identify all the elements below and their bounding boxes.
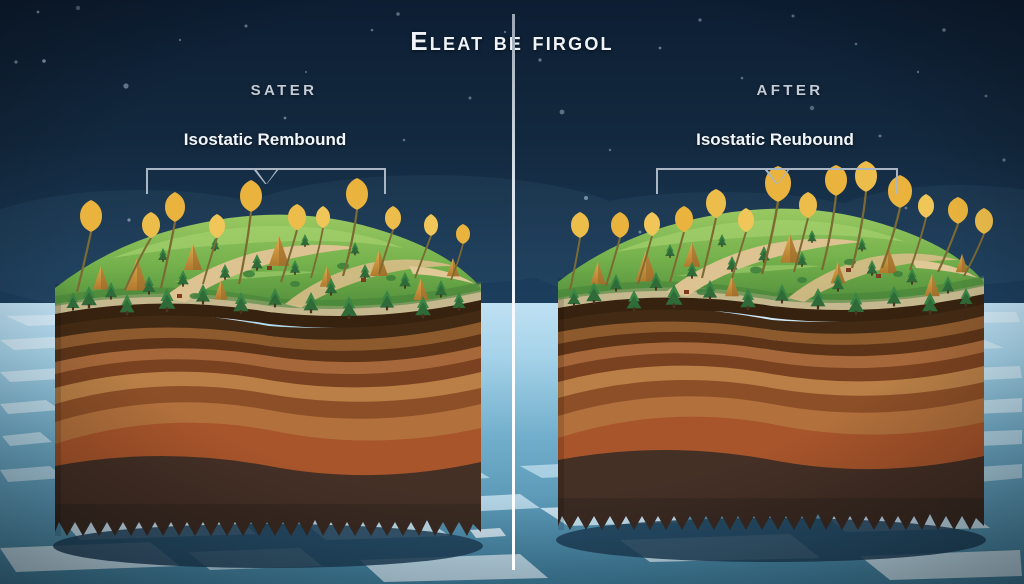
bracket-label-before: Isostatic Rembound [145,130,385,150]
rock-outcrops [590,234,968,296]
ice-chips [62,390,920,538]
measurement-bracket-after [656,168,898,196]
panel-label-after: AFTER [670,82,910,99]
pine-forest [568,230,973,315]
shrubs [190,263,397,299]
island-cross-section-after [556,161,993,562]
center-divider [512,14,515,570]
measurement-bracket-before [146,168,386,196]
bracket-tick-left [146,168,148,194]
shrubs [697,259,904,295]
illustration-canvas: Eleat be firgol SATER AFTER Isostatic Re… [0,0,1024,584]
bracket-bar [146,168,386,170]
bracket-chevron-icon [254,169,278,184]
island-cross-section-before [53,178,483,568]
bracket-bar [656,168,898,170]
scene: Eleat be firgol SATER AFTER Isostatic Re… [0,0,1024,584]
hill-surface [55,215,481,306]
huts [684,268,881,294]
bracket-chevron-icon [765,169,789,184]
path-sand [163,245,359,302]
bracket-tick-right [384,168,386,194]
panel-label-before: SATER [164,82,404,99]
hill-surface [558,209,984,300]
huts [177,266,366,298]
bracket-label-after: Isostatic Reubound [655,130,895,150]
path-sand [666,239,862,296]
bracket-tick-right [896,168,898,194]
bracket-tick-left [656,168,658,194]
rock-outcrops [93,236,459,300]
ice-floes [0,310,1022,582]
pine-forest [67,234,466,319]
